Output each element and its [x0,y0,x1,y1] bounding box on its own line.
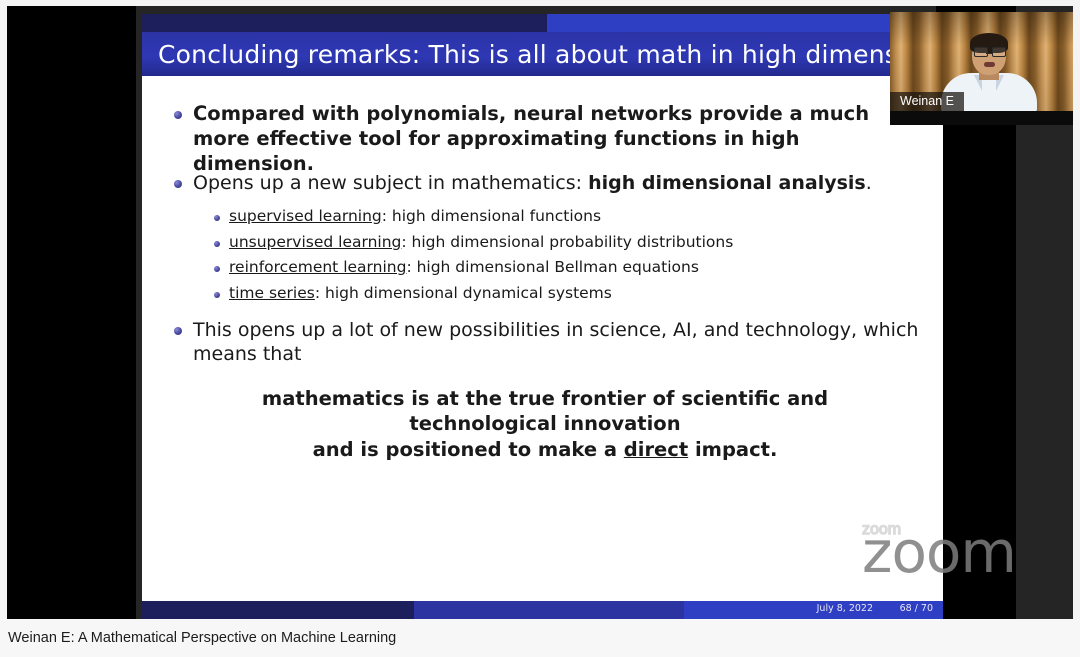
top-band-segment-dark [142,14,547,32]
sub-bullet-desc: : high dimensional Bellman equations [406,258,699,276]
slide-title-bar: Concluding remarks: This is all about ma… [142,32,943,76]
footer-segment-bright: July 8, 2022 68 / 70 [684,601,943,619]
sub-bullet-desc: : high dimensional functions [382,207,601,225]
slide-top-band [142,14,943,32]
zoom-video-player: Concluding remarks: This is all about ma… [0,0,1080,657]
bullet-text: This opens up a lot of new possibilities… [193,318,924,366]
bullet-lead-text: Opens up a new subject in mathematics: [193,172,588,194]
sub-bullet-text: reinforcement learning: high dimensional… [229,258,699,278]
sub-bullet-text: unsupervised learning: high dimensional … [229,233,733,253]
speaker-glasses-right [992,47,1006,57]
bullet-text: Compared with polynomials, neural networ… [193,102,919,176]
bullet-item: This opens up a lot of new possibilities… [174,318,924,366]
footer-segment-mid [414,601,684,619]
closing-line-1: mathematics is at the true frontier of s… [262,387,828,435]
sub-bullet-term: supervised learning [229,207,382,225]
top-band-segment-bright [547,14,943,32]
footer-segment-dark [142,601,414,619]
slide-date: July 8, 2022 [817,603,873,614]
bullet-dot-icon [174,180,182,188]
bullet-item: Compared with polynomials, neural networ… [174,102,919,176]
closing-line-2-after: impact. [688,438,777,461]
presentation-slide: Concluding remarks: This is all about ma… [142,14,943,619]
letterbox-left [7,6,136,619]
bullet-text: Opens up a new subject in mathematics: h… [193,171,872,195]
closing-underlined-word: direct [624,438,688,461]
sub-bullet-text: time series: high dimensional dynamical … [229,284,612,304]
sub-bullet-item: unsupervised learning: high dimensional … [214,233,914,253]
bullet-dot-icon [214,266,220,272]
sub-bullet-desc: : high dimensional dynamical systems [315,284,612,302]
sub-bullet-text: supervised learning: high dimensional fu… [229,207,601,227]
sub-bullet-item: time series: high dimensional dynamical … [214,284,914,304]
tile-bottom-bar [890,111,1073,125]
slide-title: Concluding remarks: This is all about ma… [142,40,937,69]
bullet-dot-icon [174,111,182,119]
video-title-caption: Weinan E: A Mathematical Perspective on … [0,630,396,646]
bullet-tail-text: . [866,172,872,194]
bullet-dot-icon [174,327,182,335]
sub-bullet-term: reinforcement learning [229,258,406,276]
caption-bar: Weinan E: A Mathematical Perspective on … [0,619,1080,657]
sub-bullet-item: reinforcement learning: high dimensional… [214,258,914,278]
sub-bullet-term: unsupervised learning [229,233,401,251]
sub-bullet-list: supervised learning: high dimensional fu… [214,207,914,310]
sub-bullet-desc: : high dimensional probability distribut… [401,233,733,251]
speaker-glasses-bridge [986,53,992,54]
bullet-dot-icon [214,292,220,298]
sub-bullet-term: time series [229,284,315,302]
slide-footer-bar: July 8, 2022 68 / 70 [142,601,943,619]
speaker-video-tile[interactable]: Weinan E [890,12,1073,125]
closing-statement: mathematics is at the true frontier of s… [190,386,900,462]
bullet-dot-icon [214,215,220,221]
bullet-item: Opens up a new subject in mathematics: h… [174,171,919,195]
slide-page-number: 68 / 70 [900,603,933,614]
slide-body: Compared with polynomials, neural networ… [142,76,943,601]
sub-bullet-item: supervised learning: high dimensional fu… [214,207,914,227]
closing-line-2-before: and is positioned to make a [313,438,624,461]
bullet-emphasis-text: high dimensional analysis [588,172,866,194]
speaker-mouth [984,62,995,67]
speaker-name-label: Weinan E [890,92,964,111]
video-canvas: Concluding remarks: This is all about ma… [7,6,1073,619]
bullet-dot-icon [214,241,220,247]
